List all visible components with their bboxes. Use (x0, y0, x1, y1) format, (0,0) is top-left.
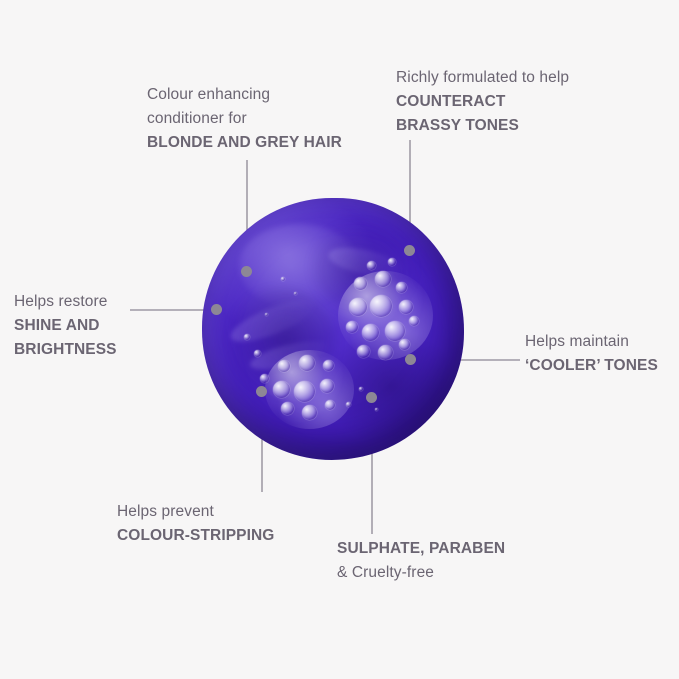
callout-line: Helps restore (14, 290, 159, 314)
product-swatch (202, 198, 464, 460)
callout-colour-stripping: Helps prevent COLOUR-STRIPPING (117, 500, 322, 548)
callout-line: COLOUR-STRIPPING (117, 524, 322, 548)
dot-colour-stripping (256, 386, 267, 397)
callout-line: Richly formulated to help (396, 66, 641, 90)
callout-line: ‘COOLER’ TONES (525, 354, 675, 378)
callout-line: BRASSY TONES (396, 114, 641, 138)
callout-cooler-tones: Helps maintain ‘COOLER’ TONES (525, 330, 675, 378)
dot-counteract-brassy-tones (404, 245, 415, 256)
dot-blonde-grey-hair (241, 266, 252, 277)
dot-cooler-tones (405, 354, 416, 365)
callout-line: SHINE AND (14, 314, 159, 338)
callout-line: Colour enhancing (147, 83, 382, 107)
callout-line: & Cruelty-free (337, 561, 547, 585)
callout-shine-and-brightness: Helps restore SHINE AND BRIGHTNESS (14, 290, 159, 362)
callout-line: SULPHATE, PARABEN (337, 537, 547, 561)
callout-line: Helps prevent (117, 500, 322, 524)
callout-line: BRIGHTNESS (14, 338, 159, 362)
infographic-canvas: Colour enhancing conditioner for BLONDE … (0, 0, 679, 679)
callout-line: COUNTERACT (396, 90, 641, 114)
callout-line: conditioner for (147, 107, 382, 131)
callout-blonde-grey-hair: Colour enhancing conditioner for BLONDE … (147, 83, 382, 155)
dot-shine-and-brightness (211, 304, 222, 315)
callout-sulphate-paraben-cruelty-free: SULPHATE, PARABEN & Cruelty-free (337, 537, 547, 585)
dot-sulphate-paraben (366, 392, 377, 403)
callout-line: BLONDE AND GREY HAIR (147, 131, 382, 155)
callout-counteract-brassy-tones: Richly formulated to help COUNTERACT BRA… (396, 66, 641, 138)
callout-line: Helps maintain (525, 330, 675, 354)
